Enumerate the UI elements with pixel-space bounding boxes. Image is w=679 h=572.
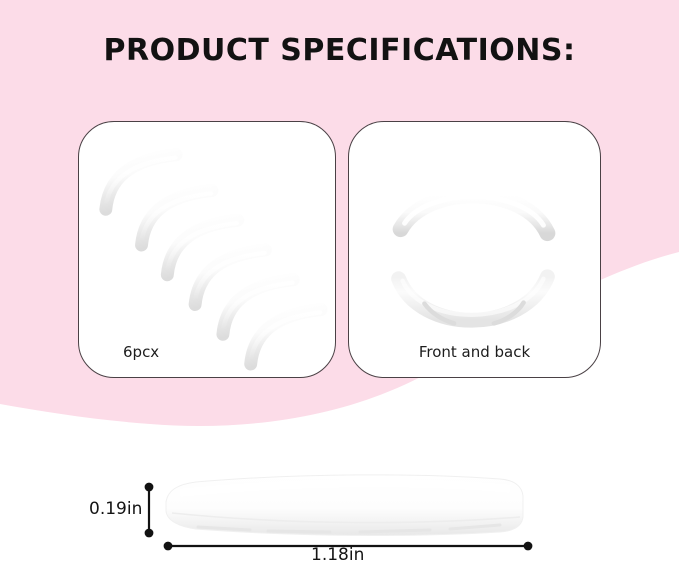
product-specifications-page: PRODUCT SPECIFICATIONS: — [0, 0, 679, 572]
width-dimension-label: 1.18in — [311, 545, 364, 565]
quantity-card: 6pcx — [78, 121, 336, 378]
orientation-card: Front and back — [348, 121, 601, 378]
width-dim-dot-left — [164, 542, 173, 551]
six-curved-pads-icon — [79, 122, 335, 377]
page-title: PRODUCT SPECIFICATIONS: — [0, 33, 679, 68]
product-profile — [166, 475, 523, 536]
dimension-diagram: 0.19in 1.18in — [0, 455, 679, 572]
front-and-back-pads-icon — [349, 122, 600, 377]
width-dim-dot-right — [524, 542, 533, 551]
orientation-card-caption: Front and back — [349, 343, 600, 361]
height-dim-dot-bottom — [145, 529, 154, 538]
height-dimension-label: 0.19in — [89, 499, 142, 519]
height-dim-dot-top — [145, 483, 154, 492]
quantity-card-caption: 6pcx — [123, 343, 159, 361]
